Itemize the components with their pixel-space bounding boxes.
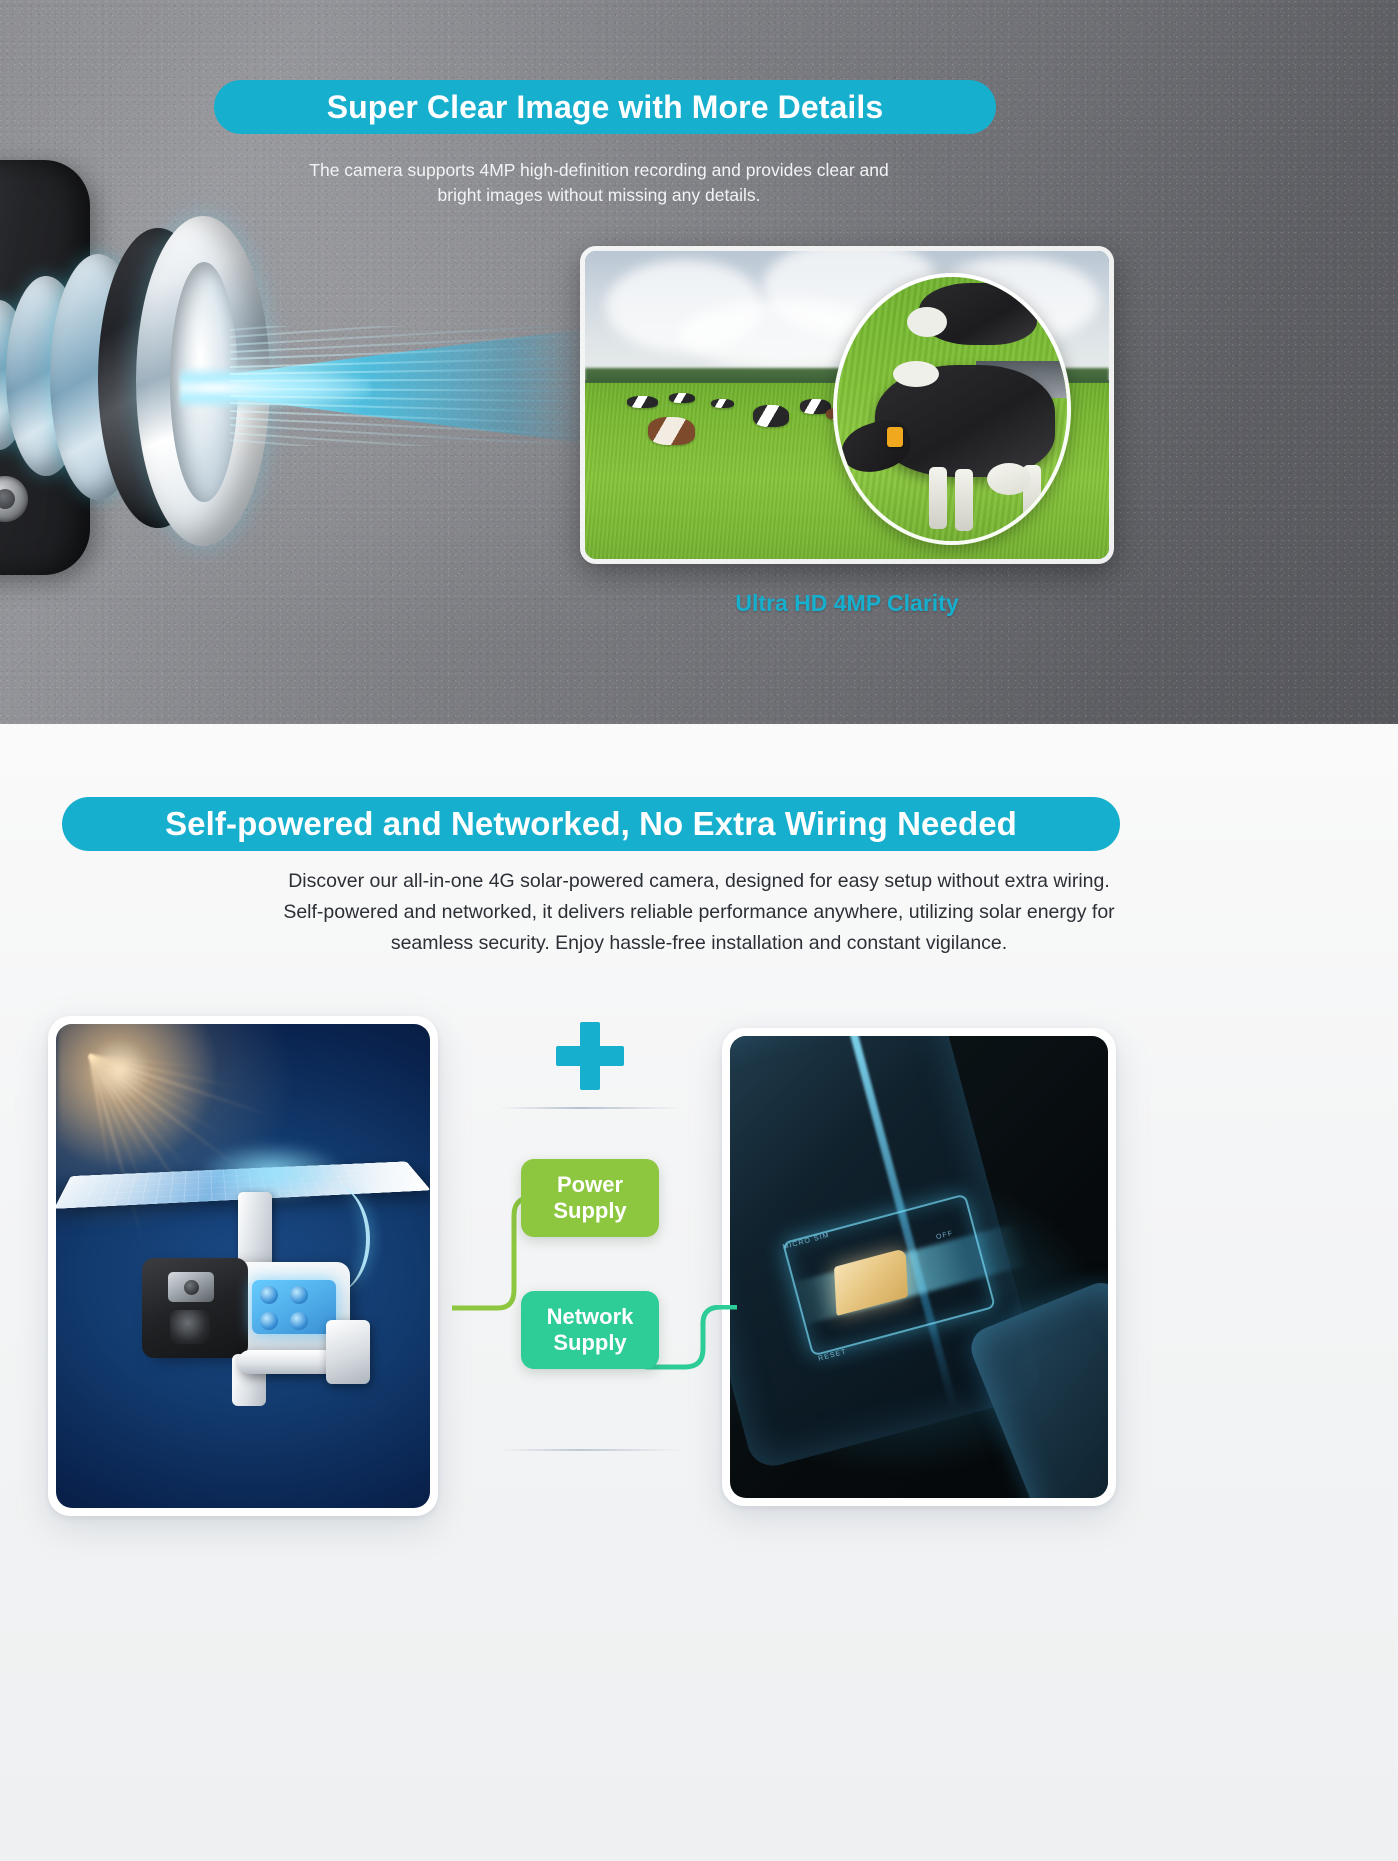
section2-paragraph-line3: seamless security. Enjoy hassle-free ins… [180,928,1218,959]
camera-body [148,1262,350,1354]
badge-network-supply: Network Supply [521,1291,659,1369]
sim-slot-card: MICRO SIM RESET OFF [722,1028,1116,1506]
divider-bottom [499,1449,681,1451]
section2-paragraph-line2: Self-powered and networked, it delivers … [180,897,1218,928]
section1-subtitle-line1: The camera supports 4MP high-definition … [236,158,962,183]
section1-subtitle-line2: bright images without missing any detail… [236,183,962,208]
light-beam-rays [230,326,590,446]
magnified-background-cow [919,283,1037,345]
section1-subtitle: The camera supports 4MP high-definition … [236,158,962,209]
photo-caption: Ultra HD 4MP Clarity [580,590,1114,617]
badge-power-supply: Power Supply [521,1159,659,1237]
cow-leg [929,467,947,529]
cow-shape [627,396,658,408]
pir-sensor-icon [170,1310,210,1344]
cow-ear-tag [887,427,903,447]
cow-shape [669,393,695,404]
cow-leg [955,469,973,531]
sim-slot-image: MICRO SIM RESET OFF [730,1036,1108,1498]
ir-led-bank [252,1280,336,1334]
solar-camera-card [48,1016,438,1516]
badge-power-line1: Power [557,1172,623,1198]
section-clear-image: Super Clear Image with More Details The … [0,0,1398,724]
solar-camera-image [56,1024,430,1508]
section2-paragraph-line1: Discover our all-in-one 4G solar-powered… [180,866,1218,897]
badge-power-line2: Supply [553,1198,626,1224]
product-feature-page: Super Clear Image with More Details The … [0,0,1398,1861]
pasture-photo [585,251,1109,559]
camera-front-face [142,1258,248,1358]
cow-shape [711,399,735,408]
wall-mount-plate [326,1320,370,1384]
cow-shape [753,405,790,427]
camera-lens-illustration [0,150,550,610]
cow-shape [648,417,695,445]
badge-network-line1: Network [547,1304,634,1330]
section1-banner: Super Clear Image with More Details [214,80,996,134]
cow-udder [987,463,1031,495]
pasture-photo-card [580,246,1114,564]
divider-top [499,1107,681,1109]
plus-icon [556,1022,624,1090]
camera-mast [238,1192,272,1270]
section2-paragraph: Discover our all-in-one 4G solar-powered… [180,866,1218,958]
badge-network-line2: Supply [553,1330,626,1356]
section2-banner: Self-powered and Networked, No Extra Wir… [62,797,1120,851]
magnifier-inset [833,273,1071,545]
camera-lens-icon [168,1272,214,1302]
